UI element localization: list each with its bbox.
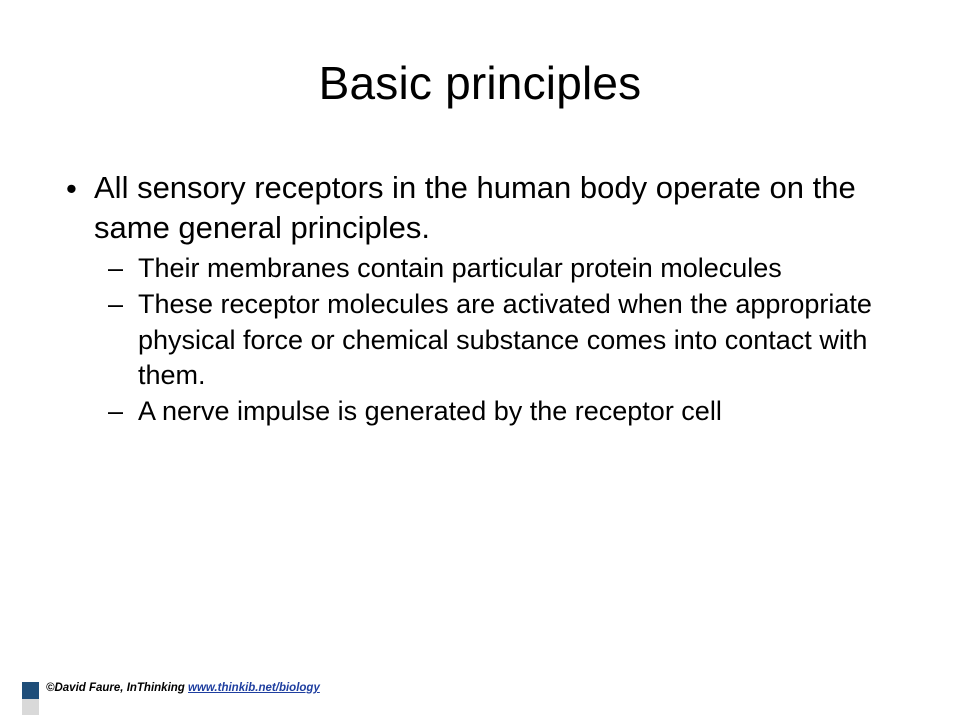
footer-credit: ©David Faure, InThinking www.thinkib.net… xyxy=(46,682,320,694)
footer-logo-dark-square xyxy=(22,682,39,699)
footer-website-link[interactable]: www.thinkib.net/biology xyxy=(188,682,320,694)
list-item: – A nerve impulse is generated by the re… xyxy=(94,394,912,429)
bullet-list-level1: • All sensory receptors in the human bod… xyxy=(52,168,912,429)
slide-body: • All sensory receptors in the human bod… xyxy=(52,168,912,431)
page-title: Basic principles xyxy=(60,58,900,109)
bullet-dot-icon: • xyxy=(66,169,77,209)
bullet-dash-icon: – xyxy=(108,394,123,429)
sub-bullet-text: A nerve impulse is generated by the rece… xyxy=(138,396,722,426)
bullet-text: All sensory receptors in the human body … xyxy=(94,170,856,245)
footer-logo-light-square xyxy=(22,699,39,715)
list-item: – Their membranes contain particular pro… xyxy=(94,251,912,286)
sub-bullet-text: These receptor molecules are activated w… xyxy=(138,289,872,389)
slide-footer: ©David Faure, InThinking www.thinkib.net… xyxy=(0,676,960,720)
bullet-dash-icon: – xyxy=(108,251,123,286)
bullet-dash-icon: – xyxy=(108,287,123,322)
slide: Basic principles • All sensory receptors… xyxy=(0,0,960,720)
bullet-list-level2: – Their membranes contain particular pro… xyxy=(94,251,912,428)
sub-bullet-text: Their membranes contain particular prote… xyxy=(138,253,782,283)
list-item: – These receptor molecules are activated… xyxy=(94,287,912,392)
footer-credit-text: ©David Faure, InThinking xyxy=(46,682,188,694)
list-item: • All sensory receptors in the human bod… xyxy=(52,168,912,429)
